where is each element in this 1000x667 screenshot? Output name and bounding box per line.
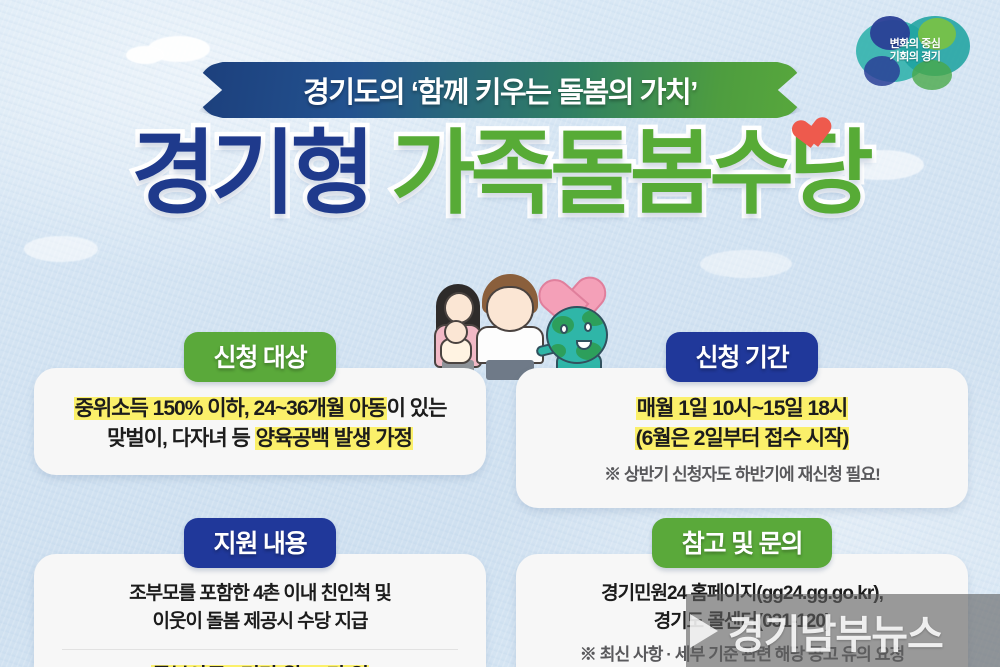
support-line-1: 조부모를 포함한 4촌 이내 친인척 및 bbox=[52, 580, 468, 608]
gyeonggi-province-logo: 변화의 중심 기회의 경기 bbox=[856, 14, 978, 100]
cloud-decoration bbox=[24, 236, 98, 262]
play-icon bbox=[690, 614, 718, 648]
mascot-eye-left bbox=[560, 324, 568, 334]
support-line-3: 돌봄아동 1명당 월 30만 원 bbox=[52, 662, 468, 667]
target-line-2-head: 맞벌이, 다자녀 등 bbox=[107, 427, 255, 450]
baby-head bbox=[444, 320, 468, 344]
card-application-period: 신청 기간 매월 1일 10시~15일 18시 (6월은 2일부터 접수 시작)… bbox=[516, 332, 968, 508]
card-heading-contact: 참고 및 문의 bbox=[652, 518, 833, 568]
logo-slogan-line2: 기회의 경기 bbox=[856, 51, 974, 64]
page-title: 경기형 가족돌봄수당 bbox=[0, 128, 1000, 220]
title-segment-navy: 경기형 bbox=[131, 123, 370, 225]
card-body-target: 중위소득 150% 이하, 24~36개월 아동이 있는 맞벌이, 다자녀 등 … bbox=[34, 368, 486, 475]
watermark-overlay: 경기남부뉴스 bbox=[686, 594, 1000, 667]
period-note: ※ 상반기 신청자도 하반기에 재신청 필요! bbox=[534, 463, 950, 488]
cloud-decoration bbox=[700, 250, 792, 278]
father-face bbox=[486, 286, 534, 332]
card-heading-target: 신청 대상 bbox=[184, 332, 337, 382]
card-heading-period: 신청 기간 bbox=[666, 332, 819, 382]
card-heading-support: 지원 내용 bbox=[184, 518, 337, 568]
support-line-2: 이웃이 돌봄 제공시 수당 지급 bbox=[52, 608, 468, 636]
watermark-text: 경기남부뉴스 bbox=[728, 602, 943, 660]
subtitle-ribbon: 경기도의 ‘함께 키우는 돌봄의 가치’ bbox=[198, 62, 802, 118]
target-highlight-2: 양육공백 발생 가정 bbox=[255, 427, 413, 450]
target-highlight-1: 중위소득 150% 이하, 24~36개월 아동 bbox=[74, 397, 387, 420]
card-body-period: 매월 1일 10시~15일 18시 (6월은 2일부터 접수 시작) ※ 상반기… bbox=[516, 368, 968, 508]
mother-face bbox=[444, 292, 474, 324]
card-support-details: 지원 내용 조부모를 포함한 4촌 이내 친인척 및 이웃이 돌봄 제공시 수당… bbox=[34, 518, 486, 667]
target-line-1: 중위소득 150% 이하, 24~36개월 아동이 있는 bbox=[52, 394, 468, 424]
cloud-decoration bbox=[126, 46, 164, 64]
period-line-1: 매월 1일 10시~15일 18시 bbox=[534, 394, 950, 424]
target-line-2: 맞벌이, 다자녀 등 양육공백 발생 가정 bbox=[52, 424, 468, 454]
heart-icon bbox=[784, 106, 822, 141]
subtitle-text: 경기도의 ‘함께 키우는 돌봄의 가치’ bbox=[303, 69, 697, 111]
target-line-1-tail: 이 있는 bbox=[387, 397, 447, 420]
period-highlight-2: (6월은 2일부터 접수 시작) bbox=[635, 427, 850, 450]
card-application-target: 신청 대상 중위소득 150% 이하, 24~36개월 아동이 있는 맞벌이, … bbox=[34, 332, 486, 475]
poster-root: 변화의 중심 기회의 경기 경기도의 ‘함께 키우는 돌봄의 가치’ 경기형 가… bbox=[0, 0, 1000, 667]
period-line-2: (6월은 2일부터 접수 시작) bbox=[534, 424, 950, 454]
mascot-eye-right bbox=[584, 322, 592, 332]
support-divider bbox=[62, 649, 458, 650]
card-body-support: 조부모를 포함한 4촌 이내 친인척 및 이웃이 돌봄 제공시 수당 지급 돌봄… bbox=[34, 554, 486, 667]
period-highlight-1: 매월 1일 10시~15일 18시 bbox=[636, 397, 848, 420]
logo-slogan-line1: 변화의 중심 bbox=[856, 38, 974, 51]
